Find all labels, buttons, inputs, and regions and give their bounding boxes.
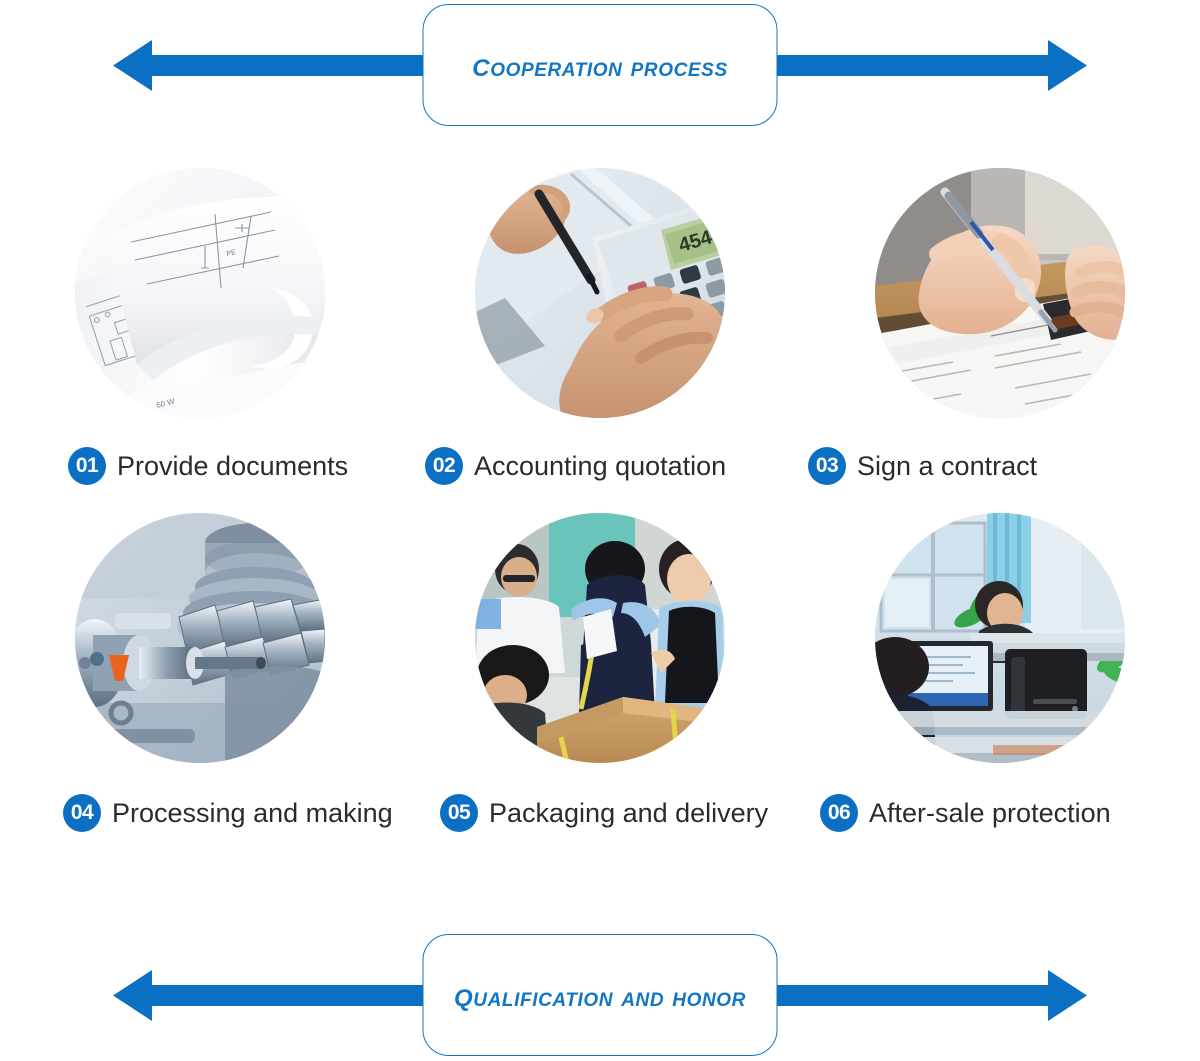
contract-signing-photo xyxy=(875,168,1125,418)
step-05-badge: 05 xyxy=(440,794,478,832)
cooperation-process-box: Cooperation process xyxy=(423,4,778,126)
contract-signing-illustration xyxy=(875,168,1125,418)
cnc-machining-illustration xyxy=(75,513,325,763)
process-step-05[interactable]: 05 Packaging and delivery xyxy=(400,513,800,858)
process-steps-row-2: 04 Processing and making xyxy=(0,513,1200,858)
office-support-illustration xyxy=(875,513,1125,763)
step-01-label: Provide documents xyxy=(117,451,348,482)
step-03-label: Sign a contract xyxy=(857,451,1037,482)
step-01-caption: 01 Provide documents xyxy=(0,447,468,485)
process-step-04[interactable]: 04 Processing and making xyxy=(0,513,400,858)
rolled-blueprints-illustration: 60 W xyxy=(75,168,325,418)
step-06-caption: 06 After-sale protection xyxy=(800,794,1200,832)
process-steps-row-1: 60 W xyxy=(0,168,1200,513)
arrow-right-icon xyxy=(770,970,1087,1021)
step-04-caption: 04 Processing and making xyxy=(0,794,463,832)
packaging-workers-photo xyxy=(475,513,725,763)
process-step-02[interactable]: 4549 xyxy=(400,168,800,513)
step-06-badge: 06 xyxy=(820,794,858,832)
arrow-left-icon xyxy=(113,40,430,91)
process-step-03[interactable]: 03 Sign a contract xyxy=(800,168,1200,513)
process-step-01[interactable]: 60 W xyxy=(0,168,400,513)
qualification-and-honor-box: Qualification and honor xyxy=(423,934,778,1056)
step-06-label: After-sale protection xyxy=(869,798,1111,829)
calculator-hands-photo: 4549 xyxy=(475,168,725,418)
rolled-blueprints-photo: 60 W xyxy=(75,168,325,418)
step-03-badge: 03 xyxy=(808,447,846,485)
step-02-label: Accounting quotation xyxy=(474,451,726,482)
step-04-label: Processing and making xyxy=(112,798,393,829)
cooperation-process-banner: Cooperation process xyxy=(0,0,1200,131)
step-02-caption: 02 Accounting quotation xyxy=(400,447,825,485)
arrow-left-icon xyxy=(113,970,430,1021)
process-steps: 60 W xyxy=(0,168,1200,868)
arrow-right-icon xyxy=(770,40,1087,91)
step-05-label: Packaging and delivery xyxy=(489,798,768,829)
qualification-and-honor-banner: Qualification and honor xyxy=(0,930,1200,1061)
calculator-hands-illustration: 4549 xyxy=(475,168,725,418)
packaging-workers-illustration xyxy=(475,513,725,763)
step-05-caption: 05 Packaging and delivery xyxy=(400,794,840,832)
process-step-06[interactable]: 06 After-sale protection xyxy=(800,513,1200,858)
step-02-badge: 02 xyxy=(425,447,463,485)
step-04-badge: 04 xyxy=(63,794,101,832)
qualification-and-honor-title: Qualification and honor xyxy=(454,976,746,1015)
cooperation-process-title: Cooperation process xyxy=(472,46,727,85)
office-support-photo xyxy=(875,513,1125,763)
step-01-badge: 01 xyxy=(68,447,106,485)
step-03-caption: 03 Sign a contract xyxy=(800,447,1200,485)
cnc-machining-photo xyxy=(75,513,325,763)
